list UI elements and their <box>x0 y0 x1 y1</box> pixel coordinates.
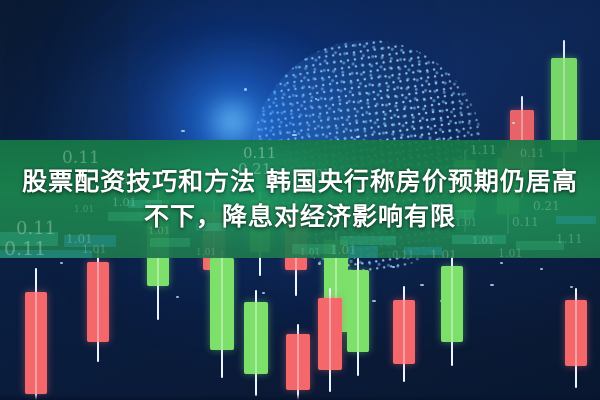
particle-speck <box>244 88 247 91</box>
candlestick-body <box>347 270 369 352</box>
candlestick-down <box>565 288 587 388</box>
particle-speck <box>420 284 424 286</box>
candlestick-down <box>393 286 415 382</box>
candlestick-body <box>318 298 342 370</box>
bottom-edge-fade <box>0 394 600 400</box>
candlestick-body <box>244 302 268 374</box>
candlestick-body <box>441 266 463 342</box>
candlestick-up <box>347 258 369 376</box>
particle-speck <box>176 296 179 298</box>
particle-speck <box>500 262 503 264</box>
banner-image: 0.111.011.010.111.010.111.010.211.010.11… <box>0 0 600 400</box>
candlestick-body <box>286 334 310 390</box>
particle-speck <box>512 122 515 124</box>
headline-block: 股票配资技巧和方法 韩国央行称房价预期仍居高 不下，降息对经济影响有限 <box>0 140 600 258</box>
particle-speck <box>318 262 321 265</box>
candlestick-down <box>286 324 310 400</box>
particle-speck <box>356 136 359 138</box>
particle-speck <box>392 266 395 268</box>
particle-speck <box>60 262 63 264</box>
headline-line-2: 不下，降息对经济影响有限 <box>144 202 456 232</box>
particle-speck <box>292 134 297 136</box>
candlestick-body <box>393 300 415 364</box>
particle-speck <box>490 284 494 286</box>
particle-speck <box>372 300 376 302</box>
candlestick-body <box>565 300 587 366</box>
candlestick-body <box>551 58 577 152</box>
candlestick-body <box>25 292 47 394</box>
candlestick-down <box>87 250 109 362</box>
candlestick-down <box>25 268 47 400</box>
particle-speck <box>540 268 543 270</box>
candlestick-up <box>244 290 268 396</box>
particle-speck <box>315 98 317 100</box>
candlestick-up <box>441 256 463 366</box>
candlestick-body <box>210 258 234 350</box>
particle-speck <box>181 130 185 132</box>
headline-line-1: 股票配资技巧和方法 韩国央行称房价预期仍居高 <box>22 167 578 197</box>
candlestick-down <box>318 288 342 392</box>
candlestick-body <box>87 262 109 342</box>
candlestick-up <box>210 250 234 378</box>
